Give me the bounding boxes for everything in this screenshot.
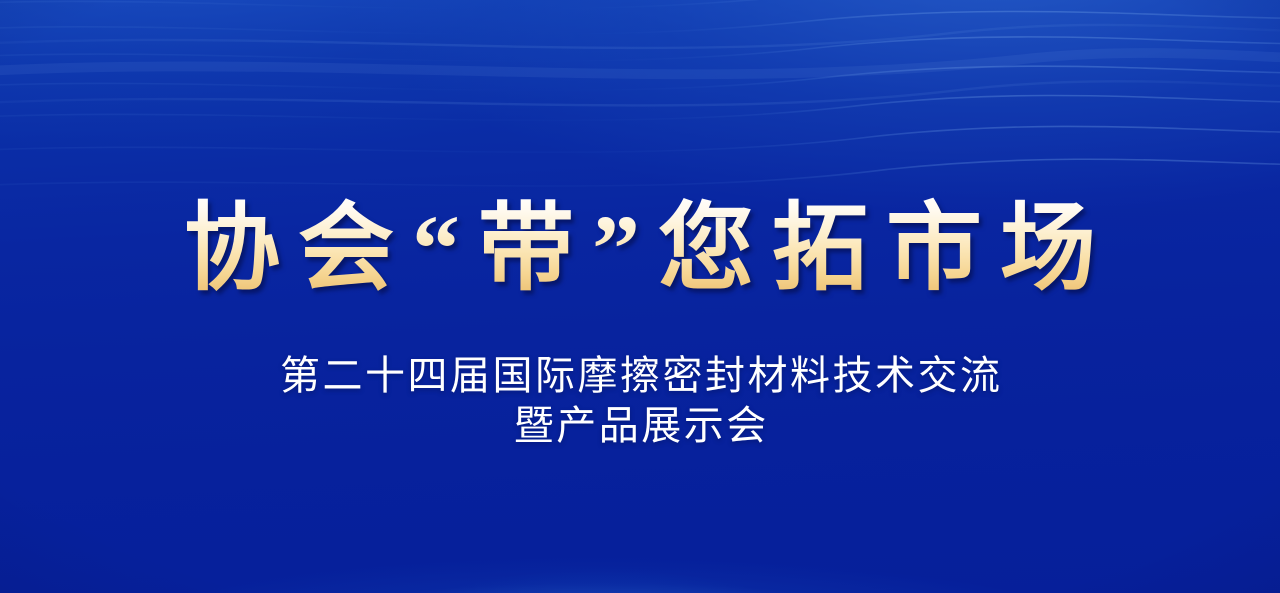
main-title: 协会“带”您拓市场 — [0, 195, 1280, 303]
subtitle-line-1: 第二十四届国际摩擦密封材料技术交流 — [3, 352, 1280, 400]
subtitle-block: 第二十四届国际摩擦密封材料技术交流 暨产品展示会 — [0, 352, 1280, 450]
slide-content: 协会“带”您拓市场 第二十四届国际摩擦密封材料技术交流 暨产品展示会 — [0, 0, 1280, 593]
subtitle-line-2: 暨产品展示会 — [3, 402, 1280, 450]
title-slide: 协会“带”您拓市场 第二十四届国际摩擦密封材料技术交流 暨产品展示会 — [0, 0, 1280, 593]
